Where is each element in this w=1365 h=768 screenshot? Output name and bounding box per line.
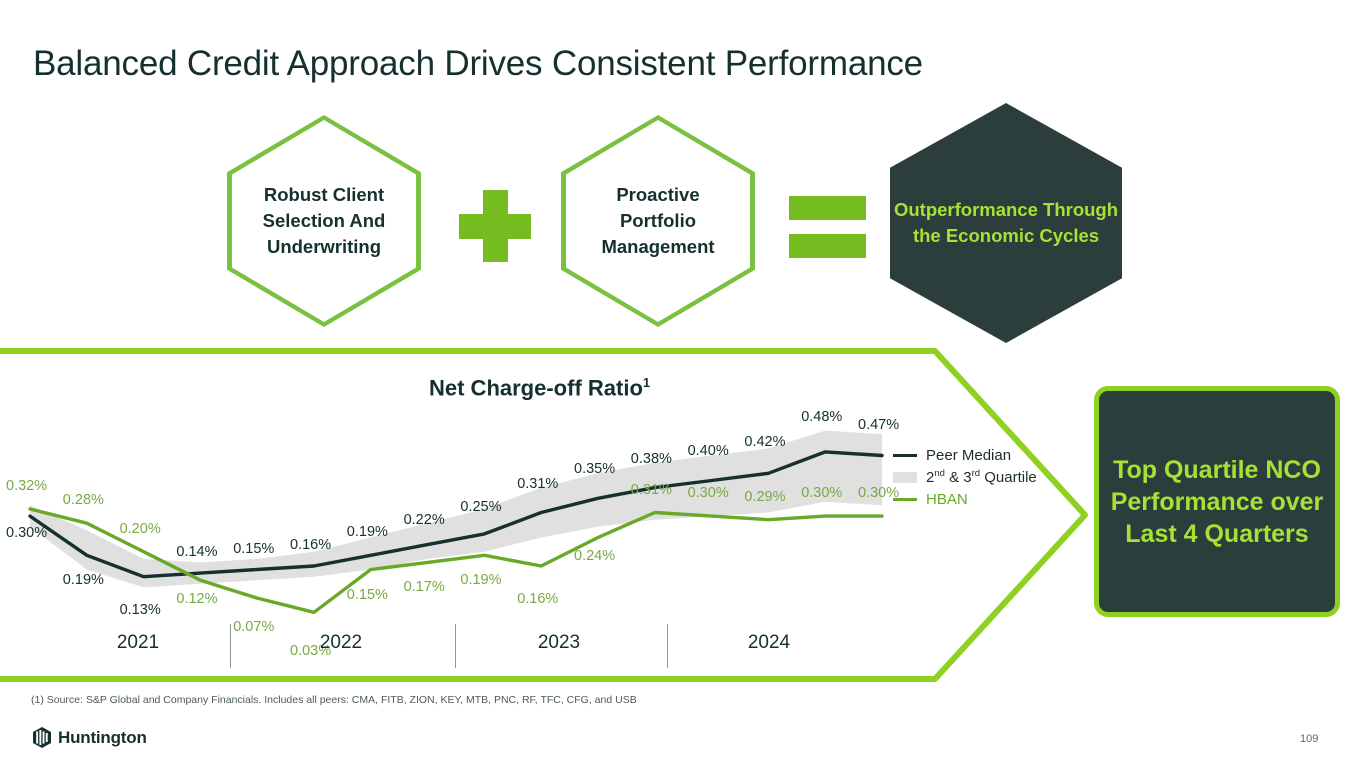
data-label-peer-2: 0.13% [120, 602, 161, 618]
axis-label-year-2023: 2023 [499, 632, 619, 654]
data-label-hban-1: 0.28% [63, 492, 104, 508]
data-label-peer-12: 0.40% [688, 443, 729, 459]
legend-line-swatch-peer [893, 454, 917, 457]
hexagon-label: Outperformance Through the Economic Cycl… [890, 197, 1122, 250]
data-label-peer-15: 0.47% [858, 417, 899, 433]
legend-item-quartile-band: 2nd & 3rd Quartile [893, 466, 1058, 488]
data-label-peer-4: 0.15% [233, 541, 274, 557]
data-label-hban-2: 0.20% [120, 521, 161, 537]
axis-separator [667, 624, 668, 668]
data-label-hban-13: 0.29% [744, 489, 785, 505]
equals-icon-bar-top [789, 196, 866, 220]
data-label-peer-3: 0.14% [176, 544, 217, 560]
data-label-hban-14: 0.30% [801, 485, 842, 501]
concept-hexagon-outperformance: Outperformance Through the Economic Cycl… [890, 103, 1122, 343]
huntington-logo-icon [32, 727, 52, 748]
data-label-hban-8: 0.19% [460, 572, 501, 588]
hexagon-dark-fill: Outperformance Through the Economic Cycl… [890, 103, 1122, 343]
page-number: 109 [1300, 733, 1318, 745]
data-label-peer-1: 0.19% [63, 572, 104, 588]
axis-label-year-2022: 2022 [281, 632, 401, 654]
axis-separator [455, 624, 456, 668]
legend-box-swatch-quartile [893, 472, 917, 483]
hexagon-inner-fill: Proactive Portfolio Management [566, 120, 750, 322]
brand-logo: Huntington [32, 727, 147, 748]
callout-text: Top Quartile NCO Performance over Last 4… [1099, 454, 1335, 550]
concept-hexagon-proactive-portfolio-management: Proactive Portfolio Management [561, 115, 755, 327]
data-label-hban-3: 0.12% [176, 591, 217, 607]
footnote: (1) Source: S&P Global and Company Finan… [31, 694, 637, 706]
data-label-peer-8: 0.25% [460, 499, 501, 515]
hexagon-label: Robust Client Selection And Underwriting [232, 182, 416, 261]
quartile-band [30, 431, 882, 588]
equals-icon [789, 196, 866, 258]
hexagon-inner-fill: Robust Client Selection And Underwriting [232, 120, 416, 322]
hexagon-label: Proactive Portfolio Management [566, 182, 750, 261]
page-title: Balanced Credit Approach Drives Consiste… [33, 44, 923, 84]
data-label-peer-7: 0.22% [404, 512, 445, 528]
plus-icon [459, 190, 531, 262]
chart-legend: Peer Median 2nd & 3rd Quartile HBAN [893, 444, 1058, 510]
data-label-hban-7: 0.17% [404, 579, 445, 595]
brand-logo-text: Huntington [58, 728, 147, 748]
chart-x-axis: 2021 2022 2023 2024 [0, 624, 900, 674]
data-label-peer-5: 0.16% [290, 537, 331, 553]
axis-label-year-2024: 2024 [709, 632, 829, 654]
legend-label: 2nd & 3rd Quartile [926, 468, 1037, 486]
legend-label: HBAN [926, 491, 968, 508]
axis-separator [230, 624, 231, 668]
data-label-hban-12: 0.30% [688, 485, 729, 501]
plus-icon-bar-vertical [483, 190, 508, 262]
data-label-peer-0: 0.30% [6, 525, 47, 541]
data-label-peer-11: 0.38% [631, 451, 672, 467]
data-label-peer-14: 0.48% [801, 409, 842, 425]
axis-label-year-2021: 2021 [78, 632, 198, 654]
data-label-hban-0: 0.32% [6, 478, 47, 494]
chart-title-text: Net Charge-off Ratio [429, 375, 643, 400]
legend-item-hban: HBAN [893, 488, 1058, 510]
data-label-hban-6: 0.15% [347, 587, 388, 603]
legend-label: Peer Median [926, 447, 1011, 464]
data-label-hban-11: 0.31% [631, 482, 672, 498]
legend-item-peer-median: Peer Median [893, 444, 1058, 466]
data-label-peer-13: 0.42% [744, 434, 785, 450]
concept-hexagon-robust-client-selection: Robust Client Selection And Underwriting [227, 115, 421, 327]
data-label-peer-10: 0.35% [574, 461, 615, 477]
data-label-hban-10: 0.24% [574, 548, 615, 564]
data-label-hban-9: 0.16% [517, 591, 558, 607]
callout-box-top-quartile: Top Quartile NCO Performance over Last 4… [1094, 386, 1340, 617]
legend-line-swatch-hban [893, 498, 917, 501]
chart-title-superscript: 1 [643, 375, 650, 390]
equals-icon-bar-bottom [789, 234, 866, 258]
data-label-peer-9: 0.31% [517, 476, 558, 492]
data-label-peer-6: 0.19% [347, 524, 388, 540]
chart-title: Net Charge-off Ratio1 [429, 375, 650, 401]
slide: Balanced Credit Approach Drives Consiste… [0, 0, 1365, 768]
